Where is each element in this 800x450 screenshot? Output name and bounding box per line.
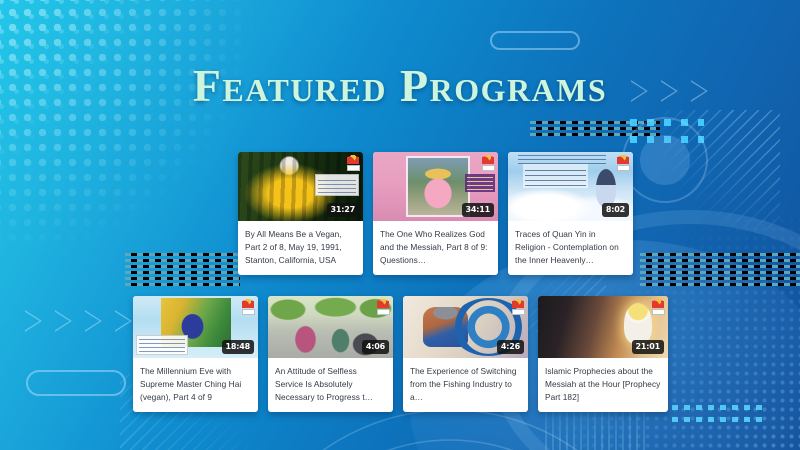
program-rows: 31:27By All Means Be a Vegan, Part 2 of …: [0, 0, 800, 450]
duration-badge: 34:11: [462, 203, 494, 217]
channel-logo-wordmark: [347, 165, 360, 171]
channel-logo-badge: [651, 299, 665, 315]
overlay-text-lines: [139, 338, 185, 352]
program-thumbnail[interactable]: 4:06: [268, 296, 393, 358]
program-row-1: 31:27By All Means Be a Vegan, Part 2 of …: [238, 152, 633, 275]
channel-logo-icon: [482, 155, 494, 164]
channel-logo-badge: [241, 299, 255, 315]
overlay-text-lines: [467, 176, 493, 190]
program-card-title: The Millennium Eve with Supreme Master C…: [133, 358, 258, 412]
program-card-1-1[interactable]: 31:27By All Means Be a Vegan, Part 2 of …: [238, 152, 363, 275]
thumbnail-text-overlay: [136, 335, 188, 355]
channel-logo-wordmark: [242, 309, 255, 315]
channel-logo-icon: [652, 299, 664, 308]
program-thumbnail[interactable]: 21:01: [538, 296, 668, 358]
program-card-title: An Attitude of Selfless Service Is Absol…: [268, 358, 393, 412]
channel-logo-icon: [512, 299, 524, 308]
program-thumbnail[interactable]: 31:27: [238, 152, 363, 221]
program-thumbnail[interactable]: 34:11: [373, 152, 498, 221]
thumbnail-text-overlay: [315, 174, 359, 196]
channel-logo-icon: [617, 155, 629, 164]
program-thumbnail[interactable]: 18:48: [133, 296, 258, 358]
duration-badge: 4:26: [497, 340, 524, 354]
program-card-2-2[interactable]: 4:06An Attitude of Selfless Service Is A…: [268, 296, 393, 412]
program-card-2-3[interactable]: 4:26The Experience of Switching from the…: [403, 296, 528, 412]
duration-badge: 18:48: [222, 340, 254, 354]
channel-logo-badge: [511, 299, 525, 315]
channel-logo-badge: [346, 155, 360, 171]
program-row-2: 18:48The Millennium Eve with Supreme Mas…: [133, 296, 668, 412]
program-card-title: By All Means Be a Vegan, Part 2 of 8, Ma…: [238, 221, 363, 275]
thumbnail-header-strip: [518, 155, 606, 165]
thumbnail-figure: [423, 307, 468, 347]
channel-logo-badge: [616, 155, 630, 171]
program-card-1-2[interactable]: 34:11The One Who Realizes God and the Me…: [373, 152, 498, 275]
program-thumbnail[interactable]: 4:26: [403, 296, 528, 358]
overlay-text-lines: [525, 166, 586, 185]
duration-badge: 21:01: [632, 340, 664, 354]
channel-logo-wordmark: [512, 309, 525, 315]
program-card-title: The One Who Realizes God and the Messiah…: [373, 221, 498, 275]
channel-logo-badge: [481, 155, 495, 171]
program-card-1-3[interactable]: 8:02Traces of Quan Yin in Religion - Con…: [508, 152, 633, 275]
program-card-title: Traces of Quan Yin in Religion - Contemp…: [508, 221, 633, 275]
channel-logo-wordmark: [652, 309, 665, 315]
program-card-title: Islamic Prophecies about the Messiah at …: [538, 358, 668, 412]
thumbnail-text-overlay: [523, 164, 588, 187]
channel-logo-wordmark: [377, 309, 390, 315]
duration-badge: 4:06: [362, 340, 389, 354]
duration-badge: 8:02: [602, 203, 629, 217]
program-card-2-1[interactable]: 18:48The Millennium Eve with Supreme Mas…: [133, 296, 258, 412]
program-card-2-4[interactable]: 21:01Islamic Prophecies about the Messia…: [538, 296, 668, 412]
program-thumbnail[interactable]: 8:02: [508, 152, 633, 221]
duration-badge: 31:27: [327, 203, 359, 217]
channel-logo-icon: [242, 299, 254, 308]
channel-logo-icon: [347, 155, 359, 164]
channel-logo-badge: [376, 299, 390, 315]
featured-programs-screen: Featured Programs 31:27By All Means Be a…: [0, 0, 800, 450]
channel-logo-wordmark: [482, 165, 495, 171]
channel-logo-icon: [377, 299, 389, 308]
program-card-title: The Experience of Switching from the Fis…: [403, 358, 528, 412]
thumbnail-text-overlay: [465, 174, 495, 192]
overlay-text-lines: [318, 177, 356, 193]
channel-logo-wordmark: [617, 165, 630, 171]
